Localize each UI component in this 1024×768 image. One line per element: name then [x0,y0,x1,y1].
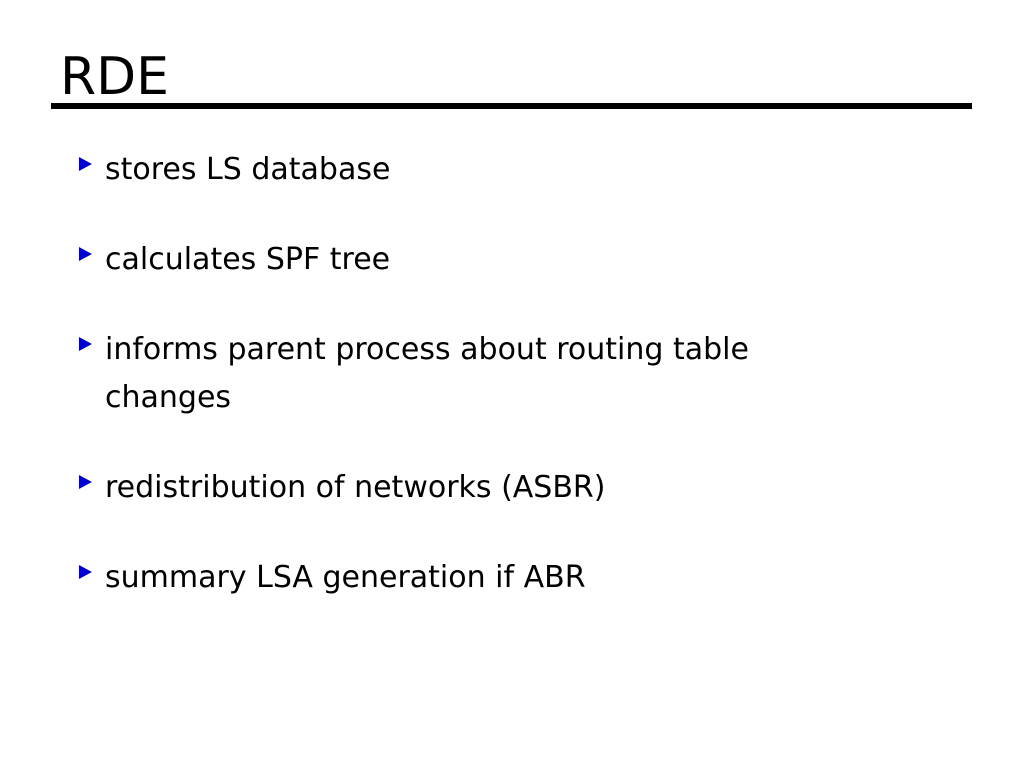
list-item: calculates SPF tree [79,236,959,284]
triangle-right-icon [79,247,92,261]
triangle-right-icon [79,475,92,489]
list-item-label: stores LS database [105,146,959,194]
triangle-right-icon [79,157,92,171]
list-item-label: redistribution of networks (ASBR) [105,464,959,512]
triangle-right-icon [79,337,92,351]
list-item: redistribution of networks (ASBR) [79,464,959,512]
title-divider [51,103,972,109]
list-item: informs parent process about routing tab… [79,326,959,422]
bullet-list: stores LS database calculates SPF tree i… [79,146,959,602]
list-item: summary LSA generation if ABR [79,554,959,602]
list-item-label: summary LSA generation if ABR [105,554,959,602]
list-item: stores LS database [79,146,959,194]
list-item-label: calculates SPF tree [105,236,959,284]
page-title: RDE [60,49,169,105]
triangle-right-icon [79,565,92,579]
list-item-label: informs parent process about routing tab… [105,326,959,422]
presentation-slide: RDE stores LS database calculates SPF tr… [0,0,1024,768]
